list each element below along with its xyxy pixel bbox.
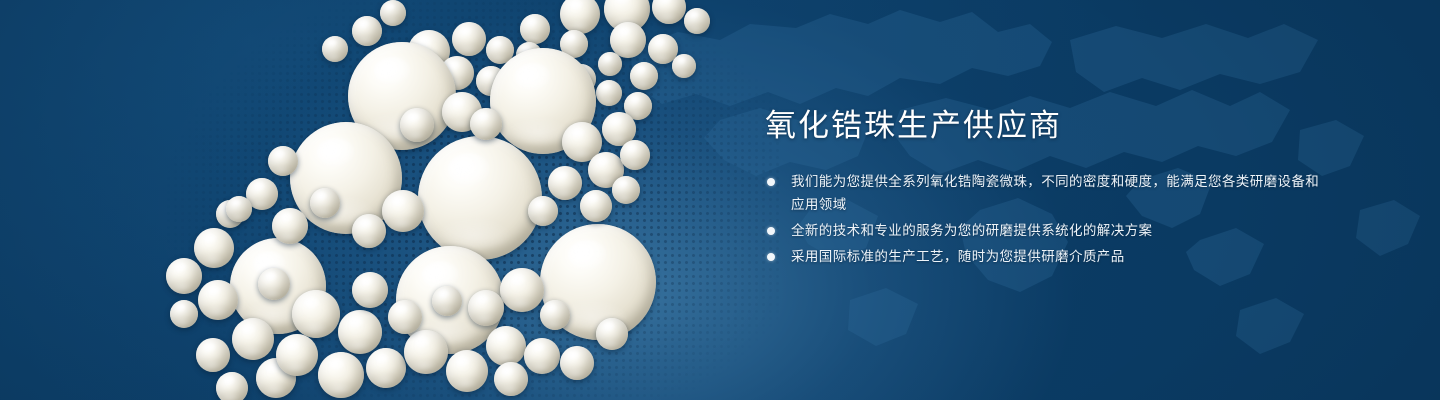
banner-text-block: 氧化锆珠生产供应商 我们能为您提供全系列氧化锆陶瓷微珠，不同的密度和硬度，能满足… xyxy=(765,108,1325,271)
list-item-label: 全新的技术和专业的服务为您的研磨提供系统化的解决方案 xyxy=(791,223,1152,238)
bullet-dot-icon xyxy=(767,253,775,261)
bullet-dot-icon xyxy=(767,178,775,186)
page-title: 氧化锆珠生产供应商 xyxy=(765,108,1325,144)
list-item: 全新的技术和专业的服务为您的研磨提供系统化的解决方案 xyxy=(765,219,1325,242)
list-item: 采用国际标准的生产工艺，随时为您提供研磨介质产品 xyxy=(765,245,1325,268)
list-item: 我们能为您提供全系列氧化锆陶瓷微珠，不同的密度和硬度，能满足您各类研磨设备和应用… xyxy=(765,170,1325,216)
list-item-label: 采用国际标准的生产工艺，随时为您提供研磨介质产品 xyxy=(791,249,1125,264)
hero-banner: 氧化锆珠生产供应商 我们能为您提供全系列氧化锆陶瓷微珠，不同的密度和硬度，能满足… xyxy=(0,0,1440,400)
bullet-dot-icon xyxy=(767,227,775,235)
feature-list: 我们能为您提供全系列氧化锆陶瓷微珠，不同的密度和硬度，能满足您各类研磨设备和应用… xyxy=(765,170,1325,268)
list-item-label: 我们能为您提供全系列氧化锆陶瓷微珠，不同的密度和硬度，能满足您各类研磨设备和应用… xyxy=(791,174,1319,212)
